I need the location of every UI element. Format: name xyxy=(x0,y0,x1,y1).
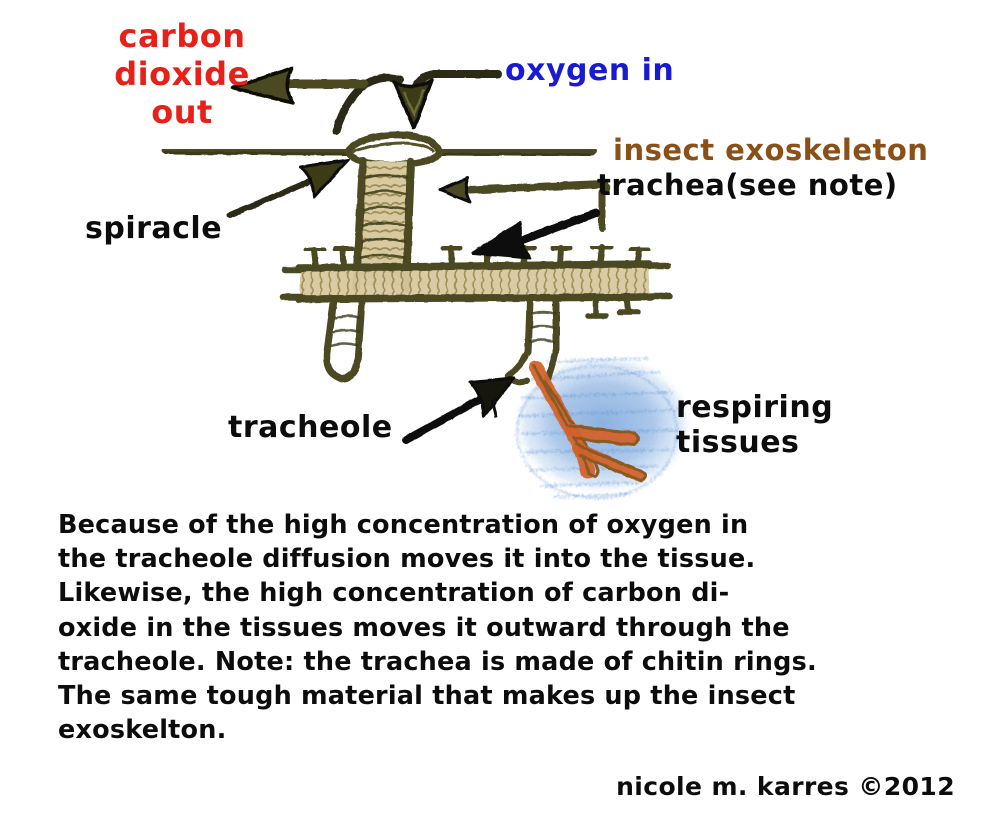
trachea-pointer-arrow xyxy=(473,213,596,258)
diagram-page: carbon dioxide out oxygen in insect exos… xyxy=(0,0,987,815)
trachea-branch-left-descending xyxy=(327,300,362,379)
label-spiracle: spiracle xyxy=(85,213,222,244)
label-oxygen-in: oxygen in xyxy=(505,55,674,86)
label-tracheole: tracheole xyxy=(228,412,393,443)
author-credit: nicole m. karres ©2012 xyxy=(0,772,955,801)
label-trachea: trachea(see note) xyxy=(597,170,898,200)
label-respiring-tissues: respiring tissues xyxy=(676,391,833,461)
label-insect-exoskeleton: insect exoskeleton xyxy=(613,135,928,165)
label-carbon-dioxide-out: carbon dioxide out xyxy=(72,18,292,131)
explanatory-paragraph: Because of the high concentration of oxy… xyxy=(58,508,948,747)
trachea-branch-network xyxy=(283,247,670,316)
oxygen-in-arrow xyxy=(394,74,498,128)
tracheole-pointer-arrow xyxy=(406,378,514,440)
spiracle-pointer-arrow xyxy=(230,160,348,215)
